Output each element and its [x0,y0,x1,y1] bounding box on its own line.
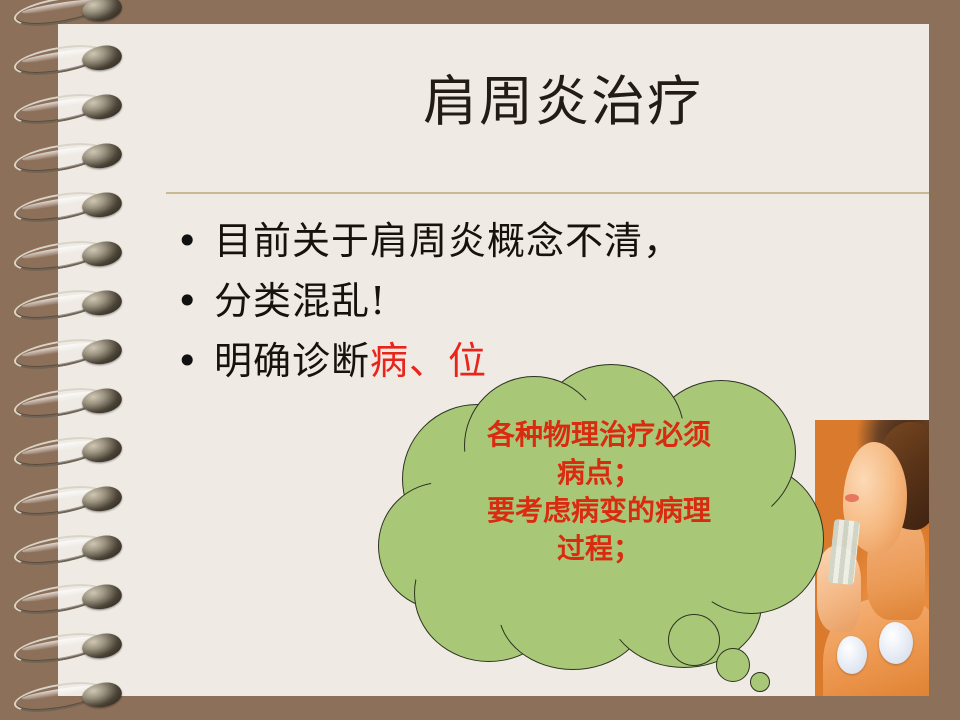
bullet-text: 分类混乱! [214,274,386,328]
spiral-bead [81,0,124,24]
list-item: • 分类混乱! [176,274,876,328]
spiral-ring [14,0,118,26]
slide-canvas: 肩周炎治疗 • 目前关于肩周炎概念不清， • 分类混乱! • 明确诊断病、位 [0,0,960,720]
electrode-pad-icon [879,622,913,664]
bubble-text: 各种物理治疗必须 病点； 要考虑病变的病理 过程； [434,416,764,568]
page-title: 肩周炎治疗 [158,72,929,132]
list-item: • 目前关于肩周炎概念不清， [176,214,876,268]
electrode-pad-icon [837,636,867,674]
lips-region [845,494,859,502]
thought-bubble: 各种物理治疗必须 病点； 要考虑病变的病理 过程； [378,364,818,664]
bullet-marker-icon: • [176,274,214,328]
title-divider [166,192,929,194]
bullet-text: 目前关于肩周炎概念不清， [214,214,682,268]
bubble-tail-small [750,672,770,692]
bullet-marker-icon: • [176,334,214,388]
patient-photo [815,420,929,696]
notebook-page: 肩周炎治疗 • 目前关于肩周炎概念不清， • 分类混乱! • 明确诊断病、位 [58,24,929,696]
bubble-tail-medium [716,648,750,682]
bubble-tail-large [668,614,720,666]
bullet-marker-icon: • [176,214,214,268]
